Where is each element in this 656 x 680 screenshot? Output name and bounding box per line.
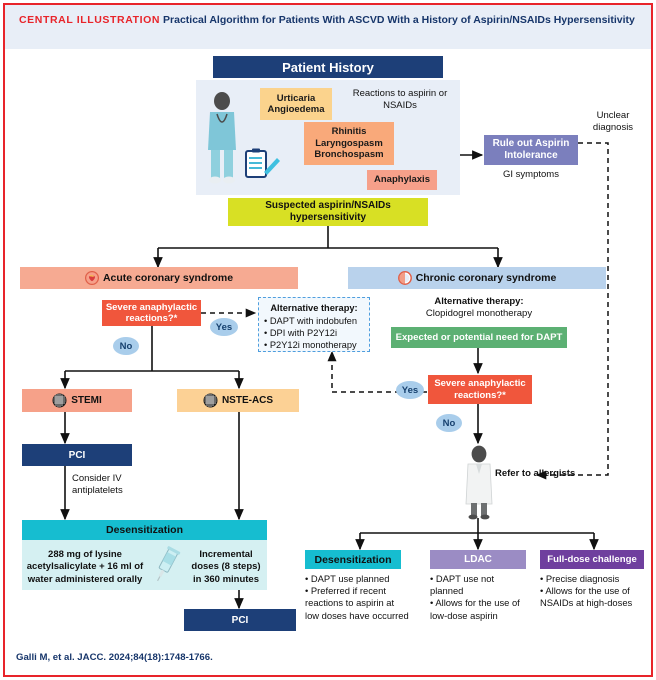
acs-no-badge: No (113, 337, 139, 355)
alternative-therapy-acs-item-0: • DAPT with indobufen (264, 315, 357, 327)
illustration-header: CENTRAL ILLUSTRATION Practical Algorithm… (5, 5, 651, 49)
acs-dose-left-text: 288 mg of lysine acetylsalicylate + 16 m… (27, 549, 143, 585)
outcome-full-dose-challenge-header: Full-dose challenge (540, 550, 644, 569)
ccs-no-text: No (443, 418, 456, 429)
expected-need-dapt-box: Expected or potential need for DAPT (391, 327, 567, 348)
suspected-hypersensitivity-box: Suspected aspirin/NSAIDs hypersensitivit… (228, 198, 428, 226)
ccs-alt-therapy-sub: Clopidogrel monotherapy (404, 308, 554, 320)
consider-iv-antiplatelets-text: Consider IV antiplatelets (72, 473, 123, 496)
acs-dose-right: Incremental doses (8 steps) in 360 minut… (186, 549, 266, 586)
ccs-severe-reactions-box: Severe anaphylactic reactions?* (428, 375, 532, 404)
ccs-alt-therapy-label: Alternative therapy: Clopidogrel monothe… (404, 296, 554, 320)
acute-coronary-syndrome-label: Acute coronary syndrome (103, 272, 233, 284)
nste-acs-box: NSTE-ACS (177, 389, 299, 412)
tag-urticaria-angioedema-text: Urticaria Angioedema (266, 93, 326, 116)
acs-desensitization-header-text: Desensitization (106, 524, 183, 536)
acs-yes-badge: Yes (210, 318, 238, 336)
rule-out-title: Rule out Aspirin Intolerance (484, 138, 578, 162)
ccs-severe-reactions-text: Severe anaphylactic reactions?* (428, 378, 532, 401)
nste-grid-icon (203, 393, 218, 408)
outcome-full-dose-challenge-title: Full-dose challenge (547, 554, 637, 565)
alternative-therapy-acs-item-1: • DPI with P2Y12i (264, 327, 337, 339)
pci-box: PCI (22, 444, 132, 466)
tag-anaphylaxis-text: Anaphylaxis (374, 174, 430, 186)
pci-label: PCI (69, 450, 86, 461)
patient-history-title-text: Patient History (282, 60, 374, 75)
unclear-diagnosis-text: Unclear diagnosis (593, 110, 633, 133)
gi-symptoms-label: GI symptoms (484, 169, 578, 181)
ccs-no-badge: No (436, 414, 462, 432)
expected-need-dapt-text: Expected or potential need for DAPT (396, 332, 563, 343)
ccs-yes-text: Yes (402, 385, 418, 396)
gi-symptoms-text: GI symptoms (503, 169, 559, 180)
tag-rhinitis-text: Rhinitis Laryngospasm Bronchospasm (310, 126, 388, 161)
acs-no-text: No (120, 341, 133, 352)
stemi-grid-icon (52, 393, 67, 408)
acs-severe-reactions-text: Severe anaphylactic reactions?* (102, 302, 201, 325)
tag-rhinitis-laryngospasm-bronchospasm: Rhinitis Laryngospasm Bronchospasm (304, 122, 394, 165)
nurse-figure-icon (200, 88, 244, 188)
outcome-full-dose-challenge-bullets: • Precise diagnosis • Allows for the use… (540, 573, 644, 610)
citation-text: Galli M, et al. JACC. 2024;84(18):1748-1… (16, 652, 213, 663)
outcome-desensitization-title: Desensitization (314, 554, 391, 566)
refer-to-allergists-text: Refer to allergists (495, 468, 575, 479)
alternative-therapy-acs-box: Alternative therapy: • DAPT with indobuf… (258, 297, 370, 352)
list-item: • Allows for the use of low-dose aspirin (430, 597, 526, 621)
header-title: Practical Algorithm for Patients With AS… (163, 14, 635, 26)
pci-bottom-label: PCI (232, 615, 249, 626)
outcome-ldac-bullets: • DAPT use not planned • Allows for the … (430, 573, 526, 622)
artery-plaque-icon (398, 271, 412, 285)
acs-dose-right-text: Incremental doses (8 steps) in 360 minut… (191, 549, 260, 585)
reactions-label: Reactions to aspirin or NSAIDs (346, 88, 454, 112)
acs-severe-reactions-box: Severe anaphylactic reactions?* (102, 300, 201, 326)
acute-coronary-syndrome-box: Acute coronary syndrome (20, 267, 298, 289)
nste-acs-label: NSTE-ACS (222, 395, 273, 406)
tag-anaphylaxis: Anaphylaxis (367, 170, 437, 190)
citation: Galli M, et al. JACC. 2024;84(18):1748-1… (16, 652, 213, 663)
header-kicker: CENTRAL ILLUSTRATION (19, 14, 160, 26)
unclear-diagnosis-label: Unclear diagnosis (580, 110, 646, 134)
stemi-box: STEMI (22, 389, 132, 412)
outcome-ldac-title: LDAC (464, 554, 492, 565)
stemi-label: STEMI (71, 395, 102, 406)
outcome-ldac-header: LDAC (430, 550, 526, 569)
acs-desensitization-header: Desensitization (22, 520, 267, 540)
reactions-label-text: Reactions to aspirin or NSAIDs (353, 88, 448, 111)
patient-history-title: Patient History (213, 56, 443, 78)
list-item: • DAPT use not planned (430, 573, 526, 597)
list-item: • Precise diagnosis (540, 573, 644, 585)
ccs-yes-badge: Yes (396, 381, 424, 399)
refer-to-allergists-label: Refer to allergists (495, 468, 595, 480)
chronic-coronary-syndrome-box: Chronic coronary syndrome (348, 267, 606, 289)
clipboard-checklist-icon (244, 148, 280, 180)
list-item: • Allows for the use of NSAIDs at high-d… (540, 585, 644, 609)
list-item: • DAPT use planned (305, 573, 409, 585)
heart-attack-icon (85, 271, 99, 285)
chronic-coronary-syndrome-label: Chronic coronary syndrome (416, 272, 557, 284)
acs-yes-text: Yes (216, 322, 232, 333)
rule-out-aspirin-intolerance-box: Rule out Aspirin Intolerance (484, 135, 578, 165)
alternative-therapy-acs-item-2: • P2Y12i monotherapy (264, 339, 357, 351)
alternative-therapy-acs-title: Alternative therapy: (264, 302, 364, 314)
outcome-desensitization-bullets: • DAPT use planned • Preferred if recent… (305, 573, 409, 622)
tag-urticaria-angioedema: Urticaria Angioedema (260, 88, 332, 120)
pci-bottom-box: PCI (184, 609, 296, 631)
central-illustration-page: CENTRAL ILLUSTRATION Practical Algorithm… (0, 0, 656, 680)
suspected-hypersensitivity-text: Suspected aspirin/NSAIDs hypersensitivit… (228, 200, 428, 225)
outcome-desensitization-header: Desensitization (305, 550, 401, 569)
allergist-doctor-icon (458, 444, 500, 520)
list-item: • Preferred if recent reactions to aspir… (305, 585, 409, 622)
ccs-alt-therapy-title: Alternative therapy: (404, 296, 554, 308)
syringe-icon (148, 545, 184, 585)
acs-dose-left: 288 mg of lysine acetylsalicylate + 16 m… (26, 549, 144, 586)
consider-iv-antiplatelets-label: Consider IV antiplatelets (72, 473, 162, 497)
